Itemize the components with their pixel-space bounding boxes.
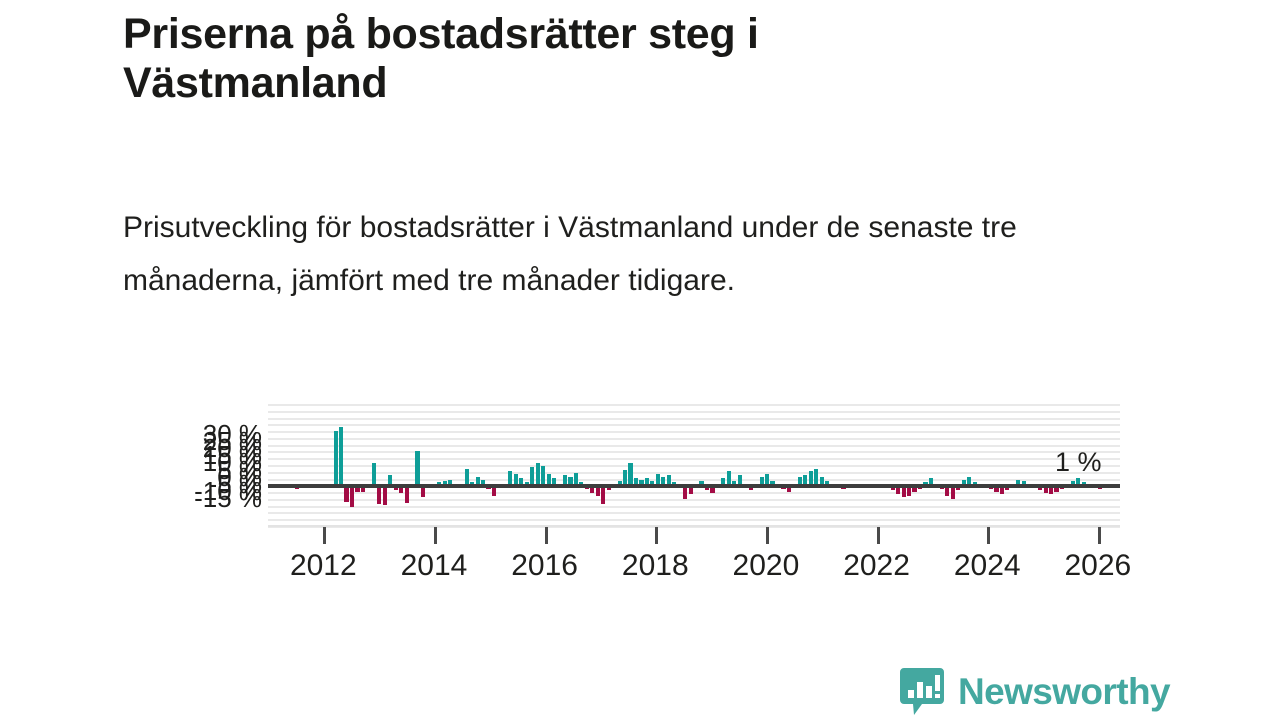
page-subtitle: Prisutveckling för bostadsrätter i Västm… [123, 202, 1123, 307]
brand-name: Newsworthy [958, 671, 1170, 713]
bar [628, 463, 632, 486]
newsworthy-bar-chart-icon [900, 668, 944, 716]
bar-series [268, 405, 1120, 527]
newsworthy-logo: Newsworthy [900, 668, 1170, 716]
x-tick [1098, 527, 1101, 544]
bar [383, 486, 387, 505]
x-tick-label: 2020 [733, 549, 800, 583]
x-tick-label: 2014 [401, 549, 468, 583]
bar-chart: 30 %25 %20 %15 %10 %5 %0 %-5 %-10 %-15 %… [0, 390, 1280, 590]
x-tick [766, 527, 769, 544]
x-tick [434, 527, 437, 544]
plot-area [268, 405, 1120, 527]
x-tick [323, 527, 326, 544]
y-axis-labels: 30 %25 %20 %15 %10 %5 %0 %-5 %-10 %-15 % [150, 390, 262, 530]
bar [601, 486, 605, 504]
bar [541, 466, 545, 486]
x-tick-label: 2016 [511, 549, 578, 583]
bar [334, 431, 338, 487]
bar [405, 486, 409, 502]
bar [372, 463, 376, 486]
bar [415, 451, 419, 486]
zero-line [268, 484, 1120, 488]
x-tick-label: 2026 [1064, 549, 1131, 583]
x-tick [655, 527, 658, 544]
bar [339, 427, 343, 487]
bar [344, 486, 348, 502]
x-tick-label: 2024 [954, 549, 1021, 583]
x-tick [987, 527, 990, 544]
bar [377, 486, 381, 504]
x-tick-label: 2018 [622, 549, 689, 583]
page-title: Priserna på bostadsrätter steg i Västman… [123, 10, 1023, 107]
y-tick-label: -15 % [194, 485, 262, 511]
bar [536, 463, 540, 486]
x-tick [877, 527, 880, 544]
bar [350, 486, 354, 506]
x-tick [545, 527, 548, 544]
x-axis: 20122014201620182020202220242026 [268, 527, 1120, 587]
x-tick-label: 2012 [290, 549, 357, 583]
x-tick-label: 2022 [843, 549, 910, 583]
